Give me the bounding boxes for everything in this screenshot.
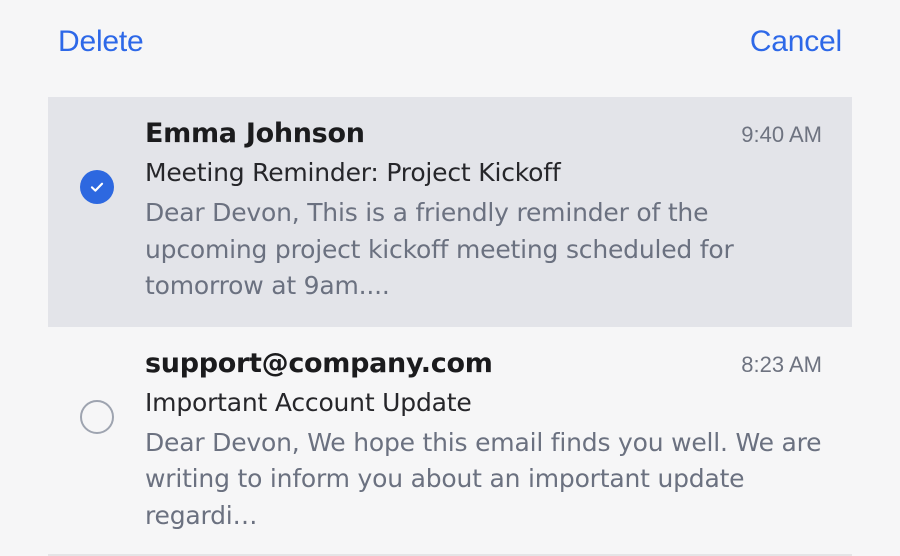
mail-list-item-selected[interactable]: Emma Johnson 9:40 AM Meeting Reminder: P… bbox=[48, 97, 852, 327]
mail-preview: Dear Devon, We hope this email finds you… bbox=[145, 425, 822, 535]
mail-item-content: support@company.com 8:23 AM Important Ac… bbox=[145, 348, 852, 535]
mail-subject: Meeting Reminder: Project Kickoff bbox=[145, 158, 822, 187]
circle-outline-icon[interactable] bbox=[80, 400, 114, 434]
delete-button[interactable]: Delete bbox=[58, 27, 144, 57]
selection-toolbar: Delete Cancel bbox=[0, 0, 900, 83]
mail-subject: Important Account Update bbox=[145, 388, 822, 417]
mail-preview: Dear Devon, This is a friendly reminder … bbox=[145, 195, 822, 305]
mail-item-content: Emma Johnson 9:40 AM Meeting Reminder: P… bbox=[145, 118, 852, 305]
mail-sender: Emma Johnson bbox=[145, 118, 365, 149]
mail-timestamp: 8:23 AM bbox=[741, 352, 822, 378]
mail-list: Emma Johnson 9:40 AM Meeting Reminder: P… bbox=[0, 97, 900, 556]
mail-list-item[interactable]: support@company.com 8:23 AM Important Ac… bbox=[48, 327, 852, 556]
selection-checkbox-cell[interactable] bbox=[48, 348, 145, 434]
mail-item-header: support@company.com 8:23 AM bbox=[145, 348, 822, 379]
mail-sender: support@company.com bbox=[145, 348, 493, 379]
mail-timestamp: 9:40 AM bbox=[741, 122, 822, 148]
selection-checkbox-cell[interactable] bbox=[48, 118, 145, 204]
cancel-button[interactable]: Cancel bbox=[750, 27, 842, 57]
mail-item-header: Emma Johnson 9:40 AM bbox=[145, 118, 822, 149]
check-circle-filled-icon[interactable] bbox=[80, 170, 114, 204]
